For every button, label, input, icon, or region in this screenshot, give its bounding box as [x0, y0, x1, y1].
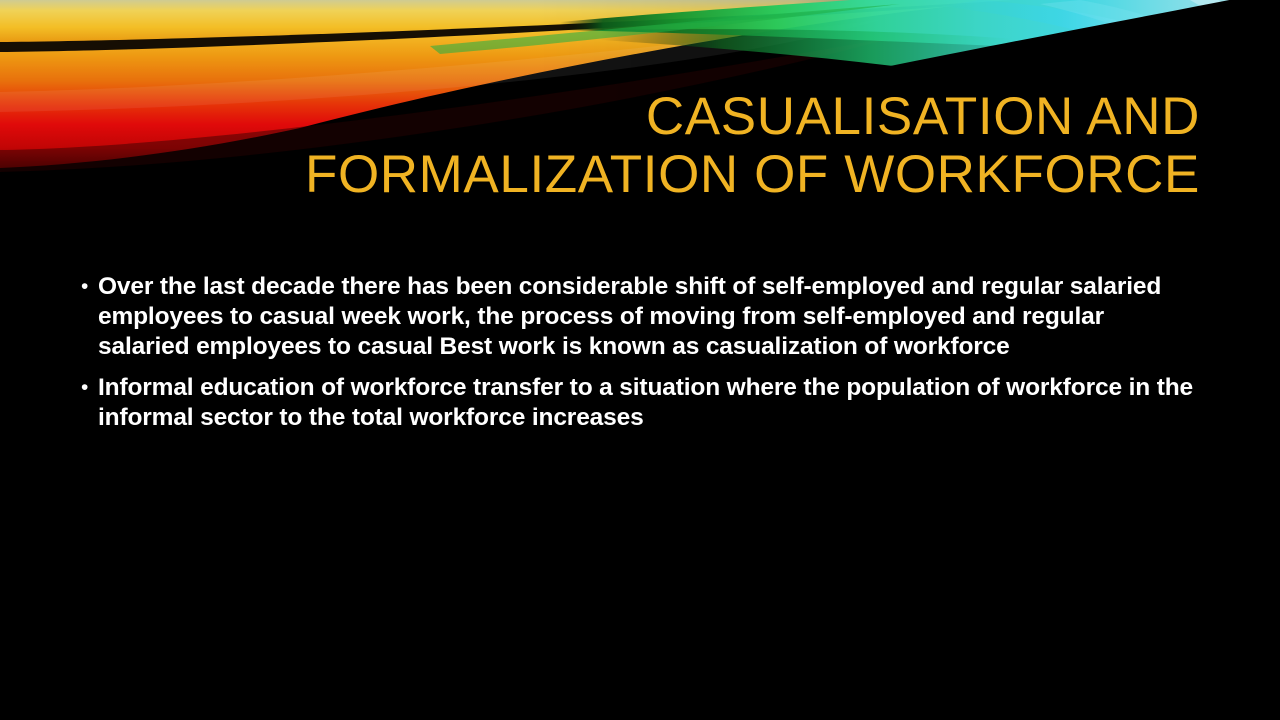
cyan-edge-arc-3 [1190, 0, 1280, 88]
bullet-item: • Over the last decade there has been co… [72, 272, 1202, 362]
cool-ribbon [560, 0, 1280, 58]
green-filament [430, 4, 900, 54]
bullet-item: • Informal education of workforce transf… [72, 373, 1202, 433]
warm-ribbon-top [0, 0, 1014, 42]
slide-title: CASUALISATION AND FORMALIZATION OF WORKF… [80, 88, 1200, 204]
bullet-text: Informal education of workforce transfer… [98, 373, 1202, 433]
bullet-point-icon: • [72, 373, 98, 403]
ribbon-split-line [0, 0, 1040, 52]
slide-title-line-1: CASUALISATION AND [80, 88, 1200, 146]
presentation-slide: CASUALISATION AND FORMALIZATION OF WORKF… [0, 0, 1280, 720]
slide-title-line-2: FORMALIZATION OF WORKFORCE [80, 146, 1200, 204]
slide-body: • Over the last decade there has been co… [72, 272, 1202, 444]
bullet-text: Over the last decade there has been cons… [98, 272, 1202, 362]
bullet-point-icon: • [72, 272, 98, 302]
